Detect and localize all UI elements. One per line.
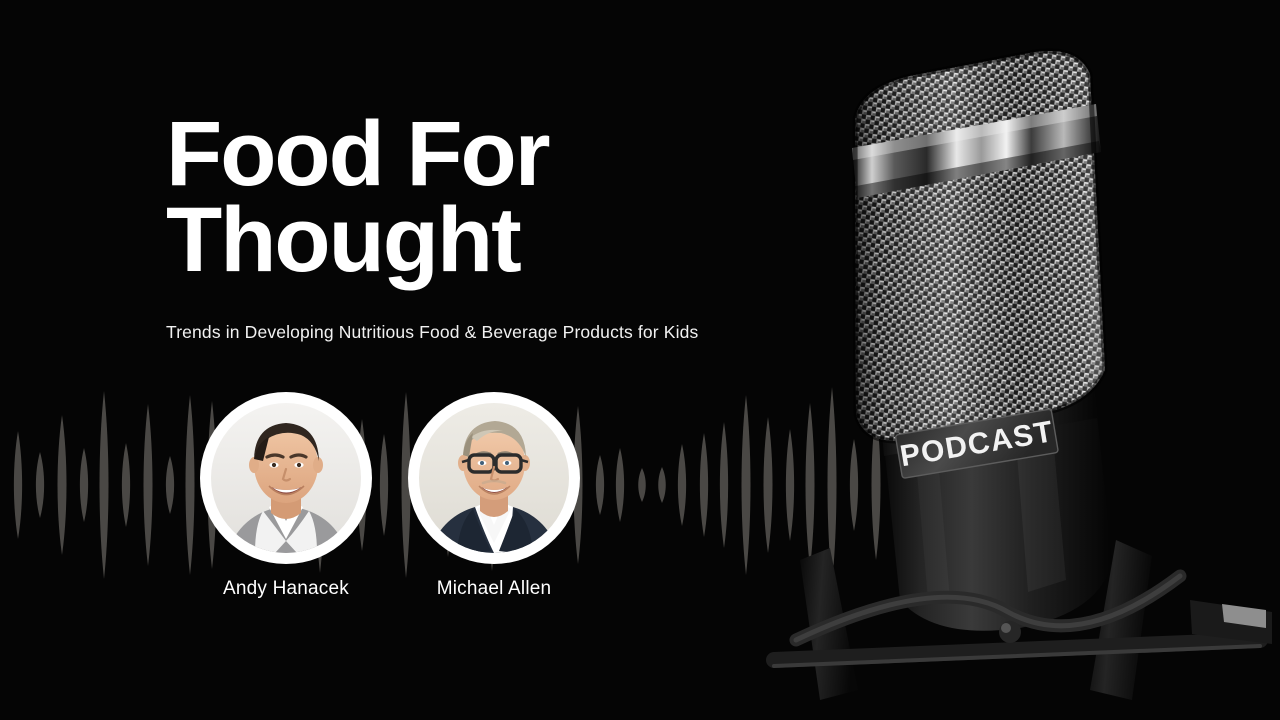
waveform-bar [122, 443, 130, 527]
waveform-bar [616, 448, 624, 522]
waveform-bar [720, 422, 728, 548]
avatar [200, 392, 372, 564]
waveform-bar [596, 455, 604, 515]
waveform-bar [658, 467, 666, 503]
waveform-bar [742, 395, 751, 575]
waveform-bar [186, 395, 195, 575]
podcast-cover: PODCAST Food For Thought Trends in Devel… [0, 0, 1280, 720]
waveform-bar [166, 456, 174, 514]
host-item: Andy Hanacek [200, 392, 372, 600]
host-name: Michael Allen [437, 578, 552, 600]
waveform-bar [36, 452, 44, 518]
waveform-bar [144, 404, 153, 566]
waveform-bar [678, 444, 686, 526]
avatar [408, 392, 580, 564]
page-title-line2: Thought [166, 198, 826, 284]
waveform-bar [700, 433, 708, 537]
host-name: Andy Hanacek [223, 578, 349, 600]
condenser-microphone: PODCAST [760, 0, 1280, 720]
title-block: Food For Thought [166, 112, 826, 283]
waveform-bar [80, 448, 88, 522]
waveform-bar [14, 431, 22, 539]
page-title-line1: Food For [166, 112, 826, 198]
portrait-photo-avatar [211, 403, 361, 553]
host-list: Andy Hanacek [200, 392, 580, 600]
portrait-photo-avatar [419, 403, 569, 553]
subtitle: Trends in Developing Nutritious Food & B… [166, 322, 698, 343]
avatar-2-svg [419, 403, 569, 553]
waveform-bar [58, 415, 67, 555]
host-item: Michael Allen [408, 392, 580, 600]
waveform-bar [638, 468, 646, 502]
avatar-1-svg [211, 403, 361, 553]
waveform-bar [100, 391, 109, 579]
microphone-svg: PODCAST [760, 0, 1280, 720]
